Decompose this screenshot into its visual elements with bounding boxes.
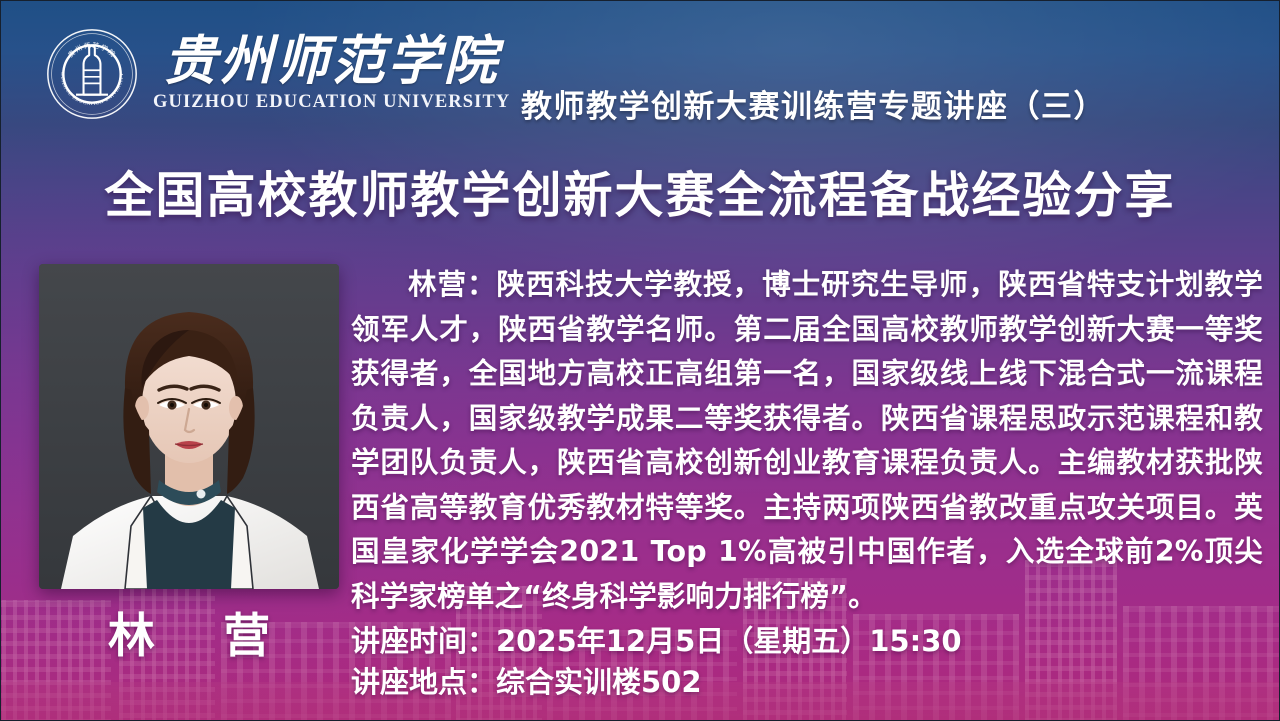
university-name-cn: 贵州师范学院	[164, 33, 500, 89]
speaker-photo	[39, 264, 339, 589]
series-title: 教师教学创新大赛训练营专题讲座（三）	[521, 81, 1106, 126]
university-name-en: GUIZHOU EDUCATION UNIVERSITY	[153, 92, 510, 113]
speaker-bio: 林营：陕西科技大学教授，博士研究生导师，陕西省特支计划教学领军人才，陕西省教学名…	[351, 263, 1263, 619]
page-title: 全国高校教师教学创新大赛全流程备战经验分享	[1, 156, 1279, 227]
university-wordmark: 贵州师范学院 GUIZHOU EDUCATION UNIVERSITY	[153, 33, 510, 114]
lecture-poster: 贵州师范学院 GUIZHOU EDUCATION UNIVERSITY 贵州师范…	[0, 0, 1280, 721]
university-logo-lockup: 贵州师范学院 GUIZHOU EDUCATION UNIVERSITY 贵州师范…	[45, 27, 510, 121]
lecture-details: 讲座时间：2025年12月5日（星期五）15:30 讲座地点：综合实训楼502	[351, 621, 962, 703]
speaker-bio-text: 林营：陕西科技大学教授，博士研究生导师，陕西省特支计划教学领军人才，陕西省教学名…	[351, 263, 1263, 619]
university-emblem-icon: 贵州师范学院 GUIZHOU EDUCATION UNIVERSITY	[45, 27, 139, 121]
svg-text:贵州师范学院: 贵州师范学院	[66, 40, 118, 59]
lecture-time: 讲座时间：2025年12月5日（星期五）15:30	[351, 621, 962, 662]
lecture-place: 讲座地点：综合实训楼502	[351, 662, 962, 703]
speaker-name: 林 营	[39, 597, 339, 666]
